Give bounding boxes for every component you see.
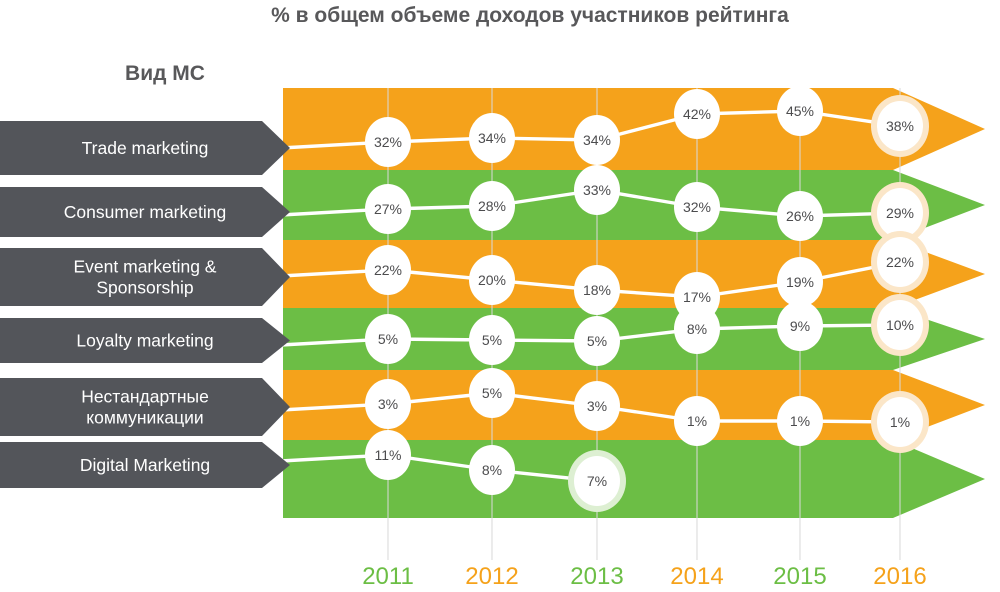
data-point-label: 22% xyxy=(374,262,402,278)
data-point-label: 34% xyxy=(478,130,506,146)
data-point-label: 29% xyxy=(886,205,914,221)
chart-root: % в общем объеме доходов участников рейт… xyxy=(0,0,1000,592)
data-point-label: 38% xyxy=(886,118,914,134)
year-label-2012: 2012 xyxy=(465,563,518,590)
data-point-5-0[interactable]: 11% xyxy=(365,430,411,480)
category-label: Sponsorship xyxy=(96,278,193,298)
data-point-label: 22% xyxy=(886,254,914,270)
data-point-5-1[interactable]: 8% xyxy=(469,445,515,495)
data-point-0-0[interactable]: 32% xyxy=(365,117,411,167)
category-chevron-digital-marketing[interactable]: Digital Marketing xyxy=(0,442,290,488)
data-point-4-0[interactable]: 3% xyxy=(365,379,411,429)
data-point-label: 17% xyxy=(683,289,711,305)
data-point-label: 27% xyxy=(374,201,402,217)
data-point-label: 26% xyxy=(786,208,814,224)
data-point-label: 9% xyxy=(790,318,810,334)
data-point-4-2[interactable]: 3% xyxy=(574,381,620,431)
category-chevron-consumer-marketing[interactable]: Consumer marketing xyxy=(0,187,290,237)
data-point-label: 1% xyxy=(687,413,707,429)
data-point-3-4[interactable]: 9% xyxy=(777,301,823,351)
category-label: Нестандартные xyxy=(81,387,209,407)
year-label-2016: 2016 xyxy=(873,563,926,590)
data-point-3-1[interactable]: 5% xyxy=(469,315,515,365)
category-chevron-event-marketing-sponsorship[interactable]: Event marketing &Sponsorship xyxy=(0,248,290,306)
data-point-label: 34% xyxy=(583,132,611,148)
data-point-2-2[interactable]: 18% xyxy=(574,265,620,315)
data-point-3-0[interactable]: 5% xyxy=(365,314,411,364)
data-point-0-4[interactable]: 45% xyxy=(777,86,823,136)
category-label: Loyalty marketing xyxy=(76,331,213,351)
category-chevron-trade-marketing[interactable]: Trade marketing xyxy=(0,121,290,175)
category-chevron-loyalty-marketing[interactable]: Loyalty marketing xyxy=(0,318,290,363)
category-label: коммуникации xyxy=(86,408,203,428)
data-point-label: 19% xyxy=(786,274,814,290)
data-point-label: 1% xyxy=(890,414,910,430)
category-chevron-nestandartnye-kommunikacii[interactable]: Нестандартныекоммуникации xyxy=(0,378,290,436)
chart-canvas: 32%34%34%42%45%38%27%28%33%32%26%29%22%2… xyxy=(0,0,1000,592)
data-point-label: 11% xyxy=(375,447,402,463)
data-point-0-2[interactable]: 34% xyxy=(574,115,620,165)
data-point-5-2[interactable]: 7% xyxy=(568,450,626,512)
category-label: Digital Marketing xyxy=(80,455,210,475)
data-point-2-4[interactable]: 19% xyxy=(777,257,823,307)
category-label: Event marketing & xyxy=(74,257,217,277)
data-point-4-1[interactable]: 5% xyxy=(469,368,515,418)
data-point-label: 5% xyxy=(378,331,398,347)
data-point-1-3[interactable]: 32% xyxy=(674,182,720,232)
data-point-label: 33% xyxy=(583,182,611,198)
data-point-0-5[interactable]: 38% xyxy=(871,95,929,157)
data-point-1-0[interactable]: 27% xyxy=(365,184,411,234)
data-point-2-1[interactable]: 20% xyxy=(469,255,515,305)
data-point-2-0[interactable]: 22% xyxy=(365,245,411,295)
category-label: Trade marketing xyxy=(82,138,209,158)
data-point-label: 7% xyxy=(587,473,607,489)
data-point-1-2[interactable]: 33% xyxy=(574,165,620,215)
year-label-2013: 2013 xyxy=(570,563,623,590)
data-point-1-4[interactable]: 26% xyxy=(777,191,823,241)
data-point-3-2[interactable]: 5% xyxy=(574,316,620,366)
data-point-label: 42% xyxy=(683,106,711,122)
year-label-2011: 2011 xyxy=(362,563,414,590)
data-point-3-3[interactable]: 8% xyxy=(674,304,720,354)
data-point-label: 32% xyxy=(374,134,402,150)
data-point-label: 28% xyxy=(478,198,506,214)
data-point-label: 5% xyxy=(587,333,607,349)
data-point-label: 8% xyxy=(687,321,707,337)
data-point-label: 20% xyxy=(478,272,506,288)
data-point-label: 32% xyxy=(683,199,711,215)
data-point-label: 10% xyxy=(886,317,914,333)
data-point-label: 45% xyxy=(786,103,814,119)
data-point-label: 3% xyxy=(378,396,398,412)
data-point-label: 5% xyxy=(482,385,502,401)
data-point-4-4[interactable]: 1% xyxy=(777,396,823,446)
data-point-label: 3% xyxy=(587,398,607,414)
data-point-2-5[interactable]: 22% xyxy=(871,231,929,293)
data-point-label: 8% xyxy=(482,462,502,478)
data-point-4-5[interactable]: 1% xyxy=(871,391,929,453)
data-point-label: 1% xyxy=(790,413,810,429)
data-point-1-1[interactable]: 28% xyxy=(469,181,515,231)
year-label-2014: 2014 xyxy=(670,563,723,590)
data-point-0-1[interactable]: 34% xyxy=(469,113,515,163)
data-point-label: 18% xyxy=(583,282,611,298)
data-point-4-3[interactable]: 1% xyxy=(674,396,720,446)
category-label: Consumer marketing xyxy=(64,202,226,222)
data-point-3-5[interactable]: 10% xyxy=(871,294,929,356)
data-point-label: 5% xyxy=(482,332,502,348)
data-point-0-3[interactable]: 42% xyxy=(674,89,720,139)
year-label-2015: 2015 xyxy=(773,563,826,590)
